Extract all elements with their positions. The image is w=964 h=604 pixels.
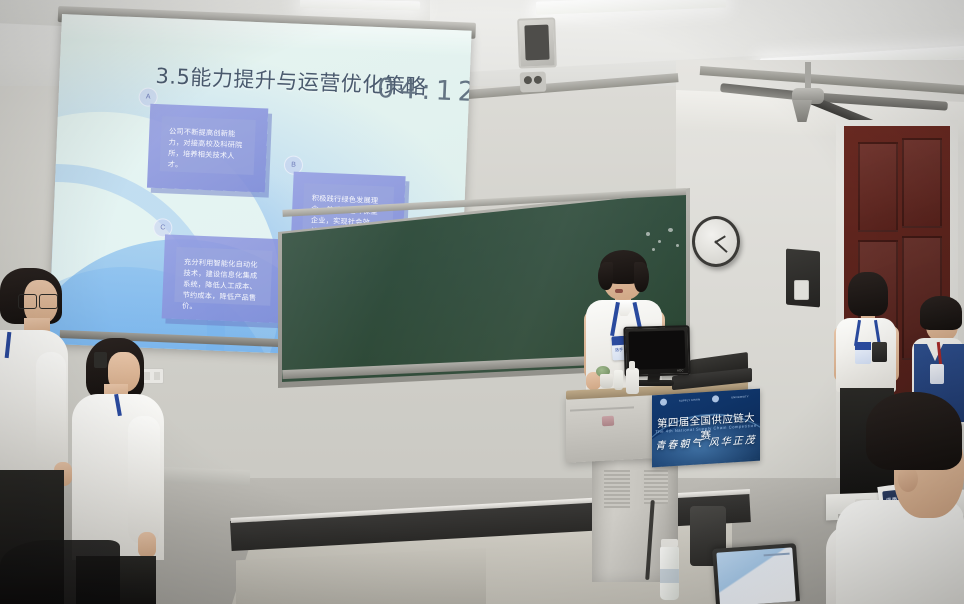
slide-card: 公司不断提高创新能力，对接高校及科研院所，培养相关技术人才。 [147, 104, 268, 193]
staff-woman-hair [848, 272, 888, 316]
judge-shirt [836, 500, 964, 604]
chalk-mark [668, 228, 673, 232]
countdown-timer: 04:12 [377, 73, 472, 108]
clock-minute-hand [715, 241, 727, 252]
cup [600, 374, 613, 388]
presenter-hair-side [598, 262, 613, 290]
lectern-vent [644, 470, 668, 504]
door-panel [858, 142, 898, 232]
monitor-screen [628, 330, 685, 369]
slide-card-text: 公司不断提高创新能力，对接高校及科研院所，培养相关技术人才。 [159, 116, 256, 182]
presenter-mouth [615, 289, 623, 293]
student-b-hand [138, 532, 156, 558]
banner-logo-icon [660, 398, 667, 405]
wall-speaker-icon [517, 17, 557, 68]
bottle-cap [661, 539, 678, 547]
clock-center-pin [715, 240, 718, 243]
judge-hair [866, 392, 962, 470]
bottle-label [660, 569, 679, 583]
lectern-latch[interactable] [602, 416, 615, 427]
staff-woman-phone [872, 342, 887, 362]
chalk-mark [646, 232, 650, 236]
competition-banner: SUPPLY CHAIN UNIVERSITY 第四届全国供应链大赛 The 4… [652, 389, 760, 468]
hair-clip [94, 352, 107, 368]
vest-man-hair [920, 296, 962, 330]
laptop-text-lines [764, 553, 790, 556]
water-bottle [660, 546, 679, 600]
banner-logos: SUPPLY CHAIN UNIVERSITY [660, 393, 749, 406]
monitor-brand-label: AOC [677, 368, 684, 372]
student-b-arm [128, 416, 160, 544]
chalk-mark [652, 248, 655, 251]
student-a-arm [36, 352, 66, 472]
wall-outlet[interactable] [794, 280, 809, 300]
lectern-vent [604, 470, 630, 508]
glasses-icon [18, 294, 56, 308]
staff-woman-id-badge [855, 342, 871, 364]
chalk-mark [658, 240, 661, 243]
wall-speaker-small-icon [520, 72, 547, 93]
slide-card-text: 充分利用智能化自动化技术，建设信息化集成系统，降低人工成本、节约成本，降低产品售… [174, 247, 273, 324]
vest-man-id-badge [930, 364, 944, 384]
chalk-mark [676, 244, 679, 247]
presenter-hair-side [634, 262, 649, 292]
laptop-screen-display [716, 547, 796, 604]
small-bottle [614, 370, 623, 390]
banner-logo-left-text: SUPPLY CHAIN [679, 398, 700, 402]
classroom-presentation-photo: 3.5能力提升与运营优化策略 04:12 A 公司不断提高创新能力，对接高校及科… [0, 0, 964, 604]
banner-logo-right-text: UNIVERSITY [731, 395, 749, 399]
banner-logo-icon [712, 395, 719, 402]
door-panel [902, 138, 942, 228]
sanitizer-pump [629, 361, 635, 370]
slide-card: 充分利用智能化自动化技术，建设信息化集成系统，降低人工成本、节约成本，降低产品售… [162, 234, 285, 323]
slide-card-inner: 公司不断提高创新能力，对接高校及科研院所，培养相关技术人才。 [159, 116, 256, 175]
wall-clock [692, 216, 740, 267]
hand-sanitizer-bottle [626, 368, 639, 394]
presenter-badge-label: 选手 [615, 347, 623, 353]
glasses-lens [18, 294, 37, 309]
glasses-lens [39, 294, 58, 309]
laptop[interactable] [712, 543, 800, 604]
foreground-shadow [0, 540, 120, 604]
slide-card-inner: 充分利用智能化自动化技术，建设信息化集成系统，降低人工成本、节约成本，降低产品售… [174, 247, 272, 306]
